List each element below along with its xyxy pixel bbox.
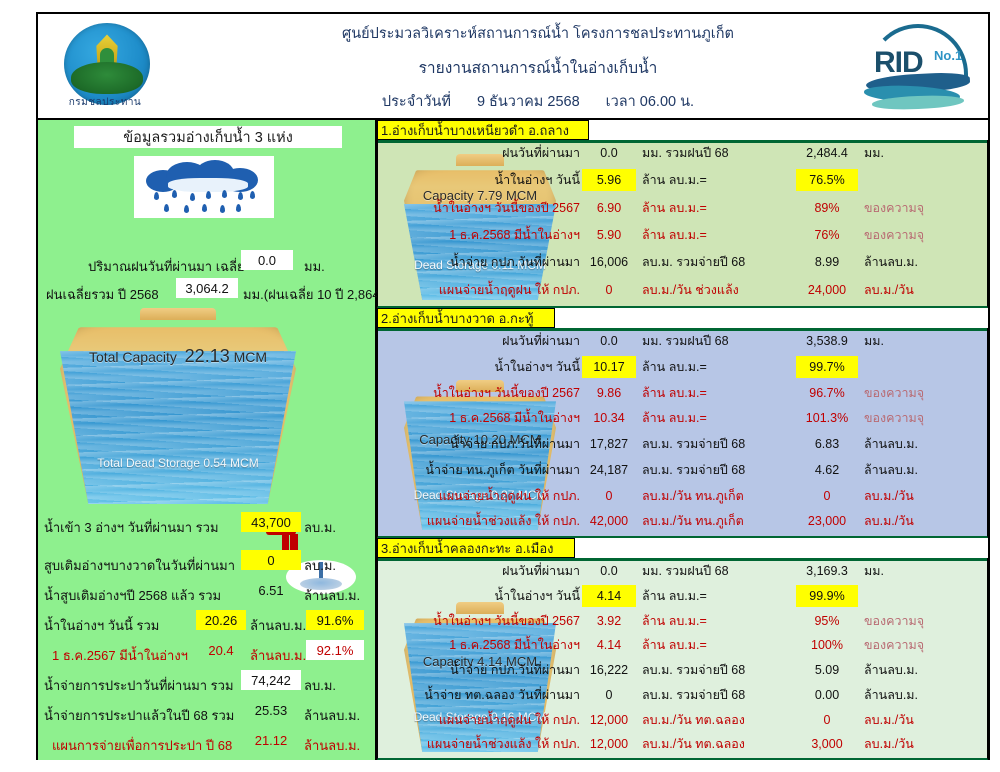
seal-caption: กรมชลประทาน	[48, 95, 162, 110]
reservoir-2-row-1-label: ฝนวันที่ผ่านมา	[380, 330, 580, 352]
summary-row-value: 20.26	[196, 610, 246, 630]
summary-row-label: น้ำเข้า 3 อ่างฯ วันที่ผ่านมา รวม	[44, 517, 219, 538]
reservoir-panel-2: 2.อ่างเก็บน้ำบางวาด อ.กะทู้Capacity 10.2…	[377, 308, 988, 538]
summary-title: ข้อมูลรวมอ่างเก็บน้ำ 3 แห่ง	[74, 126, 342, 148]
reservoir-1-row-5-unit2: ล้านลบ.ม.	[864, 251, 984, 273]
reservoir-2-row-7-value2: 0	[796, 485, 858, 507]
reservoir-3-row-6-unit: ลบ.ม. รวมจ่ายปี 68	[642, 684, 792, 706]
summary-panel: ข้อมูลรวมอ่างเก็บน้ำ 3 แห่ง	[38, 120, 377, 760]
dashboard-root: กรมชลประทาน ศูนย์ประมวลวิเคราะห์สถานการณ…	[0, 0, 1000, 772]
reservoir-panel-3: 3.อ่างเก็บน้ำคลองกะทะ อ.เมืองCapacity 4.…	[377, 538, 988, 760]
reservoir-2-row-8-unit: ลบ.ม./วัน ทน.ภูเก็ต	[642, 510, 792, 532]
reservoir-1-row-3-unit2: ของความจุ	[864, 197, 984, 219]
report-header: กรมชลประทาน ศูนย์ประมวลวิเคราะห์สถานการณ…	[38, 14, 988, 120]
reservoir-2-row-3-value2: 96.7%	[796, 382, 858, 404]
reservoir-3-row-5-unit2: ล้านลบ.ม.	[864, 659, 984, 681]
raindrops-icon	[152, 190, 260, 216]
reservoir-3-row-1-value: 0.0	[582, 560, 636, 582]
reservoir-3-row-2-unit: ล้าน ลบ.ม.=	[642, 585, 792, 607]
reservoir-2-row-6-label: น้ำจ่าย ทน.ภูเก็ต วันที่ผ่านมา	[380, 459, 580, 481]
reservoir-2-row-3-unit2: ของความจุ	[864, 382, 984, 404]
reservoir-2-row-7-unit: ลบ.ม./วัน ทน.ภูเก็ต	[642, 485, 792, 507]
summary-rain-year-label: ฝนเฉลี่ยรวม ปี 2568	[46, 284, 159, 305]
summary-rain-avg-unit: มม.	[304, 256, 325, 277]
reservoir-3-row-3-label: น้ำในอ่างฯ วันนี้ของปี 2567	[380, 610, 580, 632]
reservoir-title-1[interactable]: 1.อ่างเก็บน้ำบางเหนียวดำ อ.ถลาง	[377, 120, 589, 140]
summary-row-percent: 92.1%	[306, 640, 364, 660]
summary-row-value: 0	[241, 550, 301, 570]
reservoir-2-row-2-value: 10.17	[582, 356, 636, 378]
reservoir-2-row-3-label: น้ำในอ่างฯ วันนี้ของปี 2567	[380, 382, 580, 404]
page-title: รายงานสถานการณ์น้ำในอ่างเก็บน้ำ	[419, 55, 658, 80]
summary-row-label: น้ำในอ่างฯ วันนี้ รวม	[44, 615, 159, 636]
reservoir-1-row-1-value: 0.0	[582, 142, 636, 164]
summary-row-value: 21.12	[241, 730, 301, 750]
summary-rain-avg-label: ปริมาณฝนวันที่ผ่านมา เฉลี่ย	[88, 256, 245, 277]
reservoir-2-row-6-unit: ลบ.ม. รวมจ่ายปี 68	[642, 459, 792, 481]
summary-row-label: น้ำสูบเติมอ่างฯปี 2568 แล้ว รวม	[44, 585, 221, 606]
summary-row-unit: ล้านลบ.ม.	[304, 735, 360, 756]
reservoir-2-row-5-unit2: ล้านลบ.ม.	[864, 433, 984, 455]
reservoir-title-3[interactable]: 3.อ่างเก็บน้ำคลองกะทะ อ.เมือง	[377, 538, 575, 558]
reservoir-3-row-6-value2: 0.00	[796, 684, 858, 706]
reservoir-2-row-4-unit2: ของความจุ	[864, 407, 984, 429]
reservoir-3-row-7-label: แผนจ่ายน้ำฤดูฝน ให้ กปภ.	[380, 709, 580, 731]
reservoir-3-row-5-unit: ลบ.ม. รวมจ่ายปี 68	[642, 659, 792, 681]
reservoir-2-row-6-value2: 4.62	[796, 459, 858, 481]
reservoir-1-row-3-label: น้ำในอ่างฯ วันนี้ของปี 2567	[380, 197, 580, 219]
reservoir-3-row-2-value: 4.14	[582, 585, 636, 607]
reservoir-1-row-5-value2: 8.99	[796, 251, 858, 273]
summary-row-label: 1 ธ.ค.2567 มีน้ำในอ่างฯ	[52, 645, 188, 666]
reservoir-1-row-3-value: 6.90	[582, 197, 636, 219]
reservoir-1-row-6-label: แผนจ่ายน้ำฤดูฝน ให้ กปภ.	[380, 279, 580, 301]
reservoir-2-row-4-value: 10.34	[582, 407, 636, 429]
summary-row-unit: ลบ.ม.	[304, 675, 336, 696]
reservoir-3-row-5-value: 16,222	[582, 659, 636, 681]
reservoir-2-row-1-unit2: มม.	[864, 330, 984, 352]
reservoir-3-row-3-unit: ล้าน ลบ.ม.=	[642, 610, 792, 632]
reservoir-2-row-8-value: 42,000	[582, 510, 636, 532]
summary-row-label: แผนการจ่ายเพื่อการประปา ปี 68	[52, 735, 232, 756]
reservoir-1-row-4-unit2: ของความจุ	[864, 224, 984, 246]
reservoir-2-row-1-value: 0.0	[582, 330, 636, 352]
reservoir-3-row-7-value2: 0	[796, 709, 858, 731]
date-value: 9 ธันวาคม 2568	[477, 90, 580, 113]
reservoir-1-row-5-label: น้ำจ่าย กปภ.วันที่ผ่านมา	[380, 251, 580, 273]
reservoir-3-row-4-label: 1 ธ.ค.2568 มีน้ำในอ่างฯ	[380, 634, 580, 656]
reservoir-1-row-4-value: 5.90	[582, 224, 636, 246]
summary-row-percent: 91.6%	[306, 610, 364, 630]
reservoir-3-row-4-unit2: ของความจุ	[864, 634, 984, 656]
reservoir-1-row-1-unit: มม. รวมฝนปี 68	[642, 142, 792, 164]
summary-row-unit: ล้านลบ.ม.	[250, 615, 306, 636]
rid-seal-block: กรมชลประทาน	[44, 17, 166, 117]
reservoir-3-row-8-unit: ลบ.ม./วัน ทต.ฉลอง	[642, 733, 792, 755]
report-body: ข้อมูลรวมอ่างเก็บน้ำ 3 แห่ง	[38, 120, 988, 760]
reservoir-3-row-4-value: 4.14	[582, 634, 636, 656]
header-line-1: ศูนย์ประมวลวิเคราะห์สถานการณ์น้ำ โครงการ…	[342, 22, 734, 45]
summary-row-value: 43,700	[241, 512, 301, 532]
reservoir-2-row-1-value2: 3,538.9	[796, 330, 858, 352]
summary-rain-year-value: 3,064.2	[176, 278, 238, 298]
reservoir-1-row-6-unit: ลบ.ม./วัน ช่วงแล้ง	[642, 279, 792, 301]
reservoir-3-row-8-unit2: ลบ.ม./วัน	[864, 733, 984, 755]
reservoir-2-row-1-unit: มม. รวมฝนปี 68	[642, 330, 792, 352]
reservoir-3-row-7-unit: ลบ.ม./วัน ทต.ฉลอง	[642, 709, 792, 731]
reservoir-2-row-5-value: 17,827	[582, 433, 636, 455]
reservoir-3-row-1-unit2: มม.	[864, 560, 984, 582]
reservoir-2-row-8-value2: 23,000	[796, 510, 858, 532]
reservoir-1-row-5-value: 16,006	[582, 251, 636, 273]
summary-row-unit: ล้านลบ.ม.	[304, 585, 360, 606]
reservoir-3-row-8-value: 12,000	[582, 733, 636, 755]
reservoir-panel-1: 1.อ่างเก็บน้ำบางเหนียวดำ อ.ถลางCapacity …	[377, 120, 988, 308]
rid-logo: RID No.1	[860, 22, 978, 114]
tank-water-fill	[60, 351, 296, 504]
royal-irrigation-seal-icon	[64, 23, 150, 105]
header-date-row: ประจำวันที่ 9 ธันวาคม 2568 เวลา 06.00 น.	[382, 90, 694, 113]
summary-row-unit: ล้านลบ.ม.	[250, 645, 306, 666]
reservoir-title-2[interactable]: 2.อ่างเก็บน้ำบางวาด อ.กะทู้	[377, 308, 555, 328]
summary-row-label: สูบเติมอ่างฯบางวาดในวันที่ผ่านมา	[44, 555, 235, 576]
reservoir-1-row-4-unit: ล้าน ลบ.ม.=	[642, 224, 792, 246]
reservoir-1-row-6-value2: 24,000	[796, 279, 858, 301]
reservoir-3-row-2-label: น้ำในอ่างฯ วันนี้	[380, 585, 580, 607]
reservoir-3-row-8-value2: 3,000	[796, 733, 858, 755]
reservoir-3-row-6-unit2: ล้านลบ.ม.	[864, 684, 984, 706]
reservoir-2-row-6-unit2: ล้านลบ.ม.	[864, 459, 984, 481]
summary-rain-avg-value: 0.0	[241, 250, 293, 270]
reservoir-3-row-4-value2: 100%	[796, 634, 858, 656]
reservoir-1-row-4-value2: 76%	[796, 224, 858, 246]
summary-row-value: 6.51	[241, 580, 301, 600]
time-value: เวลา 06.00 น.	[606, 90, 694, 113]
reservoir-2-row-5-value2: 6.83	[796, 433, 858, 455]
tank-lid-icon	[140, 308, 216, 320]
reservoir-1-row-3-unit: ล้าน ลบ.ม.=	[642, 197, 792, 219]
reservoir-2-row-2-unit: ล้าน ลบ.ม.=	[642, 356, 792, 378]
summary-tank-graphic: Total Capacity 22.13 MCM Total Dead Stor…	[60, 308, 296, 504]
reservoir-2-row-7-unit2: ลบ.ม./วัน	[864, 485, 984, 507]
rain-cloud-icon	[134, 156, 274, 218]
summary-tank-dead-label: Total Dead Storage 0.54 MCM	[60, 456, 296, 470]
reservoir-2-row-4-unit: ล้าน ลบ.ม.=	[642, 407, 792, 429]
report-frame: กรมชลประทาน ศูนย์ประมวลวิเคราะห์สถานการณ…	[36, 12, 990, 760]
summary-row-value: 20.4	[196, 640, 246, 660]
reservoir-1-row-1-unit2: มม.	[864, 142, 984, 164]
reservoir-body-2: Capacity 10.20 MCMDead Storage 0.27 MCMฝ…	[377, 328, 988, 538]
reservoir-2-row-3-unit: ล้าน ลบ.ม.=	[642, 382, 792, 404]
reservoir-2-row-7-value: 0	[582, 485, 636, 507]
summary-row-unit: ล้านลบ.ม.	[304, 705, 360, 726]
date-label: ประจำวันที่	[382, 90, 451, 113]
reservoir-2-row-8-unit2: ลบ.ม./วัน	[864, 510, 984, 532]
reservoir-3-row-4-unit: ล้าน ลบ.ม.=	[642, 634, 792, 656]
summary-row-value: 25.53	[241, 700, 301, 720]
reservoir-3-row-3-unit2: ของความจุ	[864, 610, 984, 632]
summary-row-label: น้ำจ่ายการประปาแล้วในปี 68 รวม	[44, 705, 234, 726]
reservoir-1-row-2-value2: 76.5%	[796, 169, 858, 191]
summary-row-label: น้ำจ่ายการประปาวันที่ผ่านมา รวม	[44, 675, 234, 696]
summary-tank-capacity-label: Total Capacity 22.13 MCM	[60, 346, 296, 367]
reservoir-panels: 1.อ่างเก็บน้ำบางเหนียวดำ อ.ถลางCapacity …	[377, 120, 988, 760]
reservoir-2-row-7-label: แผนจ่ายน้ำฤดูฝน ให้ กปภ.	[380, 485, 580, 507]
reservoir-2-row-2-label: น้ำในอ่างฯ วันนี้	[380, 356, 580, 378]
reservoir-3-row-6-label: น้ำจ่าย ทต.ฉลอง วันที่ผ่านมา	[380, 684, 580, 706]
reservoir-3-row-8-label: แผนจ่ายน้ำช่วงแล้ง ให้ กปภ.	[380, 733, 580, 755]
reservoir-body-1: Capacity 7.79 MCMDead Storage 0.11 MCMฝน…	[377, 140, 988, 308]
seal-figure-icon	[100, 48, 114, 70]
reservoir-2-row-4-label: 1 ธ.ค.2568 มีน้ำในอ่างฯ	[380, 407, 580, 429]
summary-row-unit: ลบ.ม.	[304, 555, 336, 576]
reservoir-2-row-2-value2: 99.7%	[796, 356, 858, 378]
reservoir-1-row-2-label: น้ำในอ่างฯ วันนี้	[380, 169, 580, 191]
reservoir-1-row-2-unit: ล้าน ลบ.ม.=	[642, 169, 792, 191]
reservoir-3-row-5-value2: 5.09	[796, 659, 858, 681]
reservoir-1-row-2-value: 5.96	[582, 169, 636, 191]
reservoir-3-row-1-value2: 3,169.3	[796, 560, 858, 582]
reservoir-body-3: Capacity 4.14 MCMDead Storage 0.16 MCMฝน…	[377, 558, 988, 760]
reservoir-1-row-1-value2: 2,484.4	[796, 142, 858, 164]
reservoir-2-row-4-value2: 101.3%	[796, 407, 858, 429]
rid-no1-badge: No.1	[934, 48, 962, 63]
summary-row-unit: ลบ.ม.	[304, 517, 336, 538]
reservoir-3-row-5-label: น้ำจ่าย กปภ.วันที่ผ่านมา	[380, 659, 580, 681]
reservoir-1-row-6-value: 0	[582, 279, 636, 301]
reservoir-2-row-8-label: แผนจ่ายน้ำช่วงแล้ง ให้ กปภ.	[380, 510, 580, 532]
reservoir-3-row-3-value: 3.92	[582, 610, 636, 632]
reservoir-3-row-2-value2: 99.9%	[796, 585, 858, 607]
reservoir-1-row-6-unit2: ลบ.ม./วัน	[864, 279, 984, 301]
reservoir-1-row-1-label: ฝนวันที่ผ่านมา	[380, 142, 580, 164]
reservoir-3-row-7-value: 12,000	[582, 709, 636, 731]
reservoir-1-row-5-unit: ลบ.ม. รวมจ่ายปี 68	[642, 251, 792, 273]
reservoir-3-row-1-label: ฝนวันที่ผ่านมา	[380, 560, 580, 582]
reservoir-1-row-4-label: 1 ธ.ค.2568 มีน้ำในอ่างฯ	[380, 224, 580, 246]
reservoir-3-row-7-unit2: ลบ.ม./วัน	[864, 709, 984, 731]
reservoir-3-row-6-value: 0	[582, 684, 636, 706]
cloud-icon	[146, 160, 262, 192]
summary-row-value: 74,242	[241, 670, 301, 690]
reservoir-1-row-3-value2: 89%	[796, 197, 858, 219]
header-text-block: ศูนย์ประมวลวิเคราะห์สถานการณ์น้ำ โครงการ…	[188, 14, 888, 120]
reservoir-2-row-5-label: น้ำจ่าย กปภ.วันที่ผ่านมา	[380, 433, 580, 455]
reservoir-2-row-3-value: 9.86	[582, 382, 636, 404]
reservoir-3-row-3-value2: 95%	[796, 610, 858, 632]
reservoir-2-row-6-value: 24,187	[582, 459, 636, 481]
reservoir-3-row-1-unit: มม. รวมฝนปี 68	[642, 560, 792, 582]
reservoir-2-row-5-unit: ลบ.ม. รวมจ่ายปี 68	[642, 433, 792, 455]
